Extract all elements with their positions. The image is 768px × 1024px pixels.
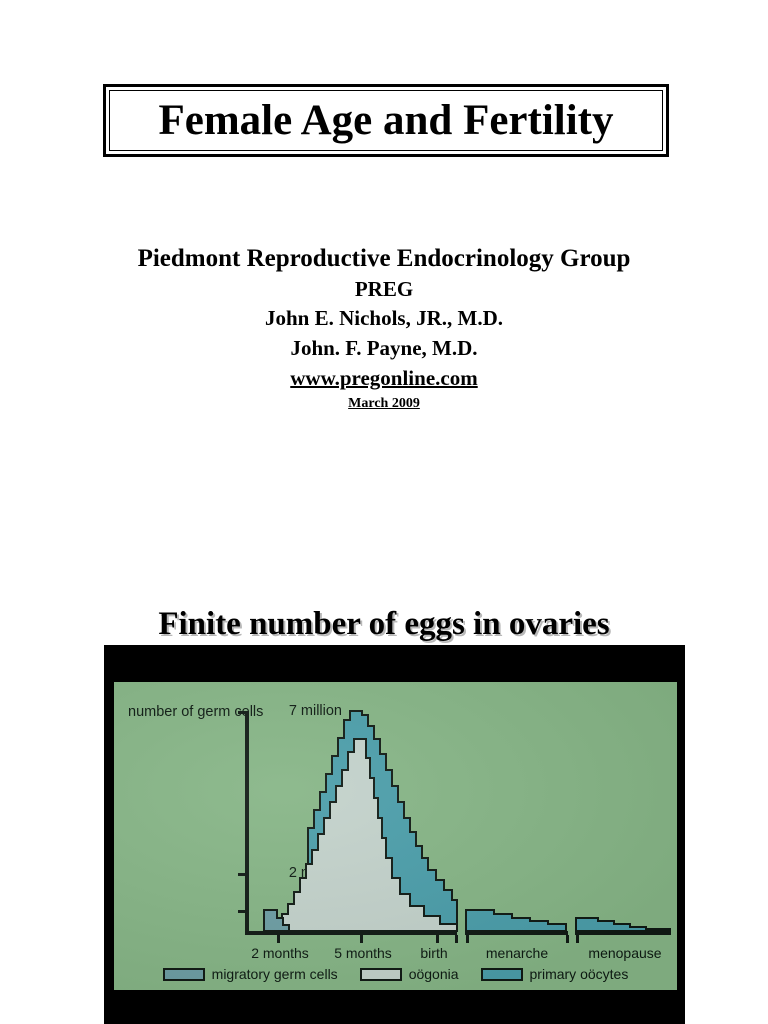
x-axis-tick-break-2 bbox=[566, 935, 569, 943]
germ-cell-chart: number of germ cells 7 million 2 million… bbox=[114, 682, 677, 990]
series-primary-oocytes-menopause bbox=[576, 918, 670, 931]
x-axis-line-menopause bbox=[575, 931, 671, 935]
slide-title-box: Female Age and Fertility bbox=[103, 84, 669, 157]
author-name-primary: John E. Nichols, JR., M.D. bbox=[0, 303, 768, 333]
x-axis-tick-break-1 bbox=[455, 935, 458, 943]
presentation-date: March 2009 bbox=[0, 393, 768, 415]
legend-swatch-migratory-germ-cells bbox=[163, 968, 205, 981]
chart-series-layer bbox=[114, 682, 677, 990]
legend-item-migratory-germ-cells: migratory germ cells bbox=[163, 966, 338, 982]
legend-label-primary-oocytes: primary oöcytes bbox=[530, 966, 629, 982]
x-axis-label-menarche: menarche bbox=[486, 945, 548, 961]
organization-name: Piedmont Reproductive Endocrinology Grou… bbox=[0, 243, 768, 275]
legend-item-primary-oocytes: primary oöcytes bbox=[481, 966, 629, 982]
x-axis-tick-menarche-start bbox=[466, 935, 469, 943]
x-axis-line-menarche bbox=[465, 931, 568, 935]
x-axis-label-menopause: menopause bbox=[588, 945, 661, 961]
x-axis-label-birth: birth bbox=[420, 945, 447, 961]
figure-photo-frame: number of germ cells 7 million 2 million… bbox=[104, 645, 685, 1024]
x-axis-tick-birth bbox=[436, 935, 439, 943]
figure-heading: Finite number of eggs in ovaries bbox=[0, 604, 768, 644]
author-name-secondary: John. F. Payne, M.D. bbox=[0, 333, 768, 363]
x-axis-tick-5-months bbox=[360, 935, 363, 943]
chart-legend: migratory germ cells oögonia primary oöc… bbox=[114, 966, 677, 982]
series-primary-oocytes-menarche bbox=[466, 910, 566, 931]
byline-block: Piedmont Reproductive Endocrinology Grou… bbox=[0, 243, 768, 415]
chart-canvas: number of germ cells 7 million 2 million… bbox=[114, 682, 677, 990]
legend-label-oogonia: oögonia bbox=[409, 966, 459, 982]
page-title: Female Age and Fertility bbox=[159, 99, 614, 142]
slide-title-box-inner: Female Age and Fertility bbox=[109, 90, 663, 151]
legend-item-oogonia: oögonia bbox=[360, 966, 459, 982]
website-link[interactable]: www.pregonline.com bbox=[0, 363, 768, 393]
x-axis-label-2-months: 2 months bbox=[251, 945, 309, 961]
legend-swatch-primary-oocytes bbox=[481, 968, 523, 981]
legend-label-migratory-germ-cells: migratory germ cells bbox=[212, 966, 338, 982]
x-axis-label-5-months: 5 months bbox=[334, 945, 392, 961]
legend-swatch-oogonia bbox=[360, 968, 402, 981]
x-axis-tick-2-months bbox=[277, 935, 280, 943]
x-axis-tick-menopause-start bbox=[576, 935, 579, 943]
organization-acronym: PREG bbox=[0, 275, 768, 303]
